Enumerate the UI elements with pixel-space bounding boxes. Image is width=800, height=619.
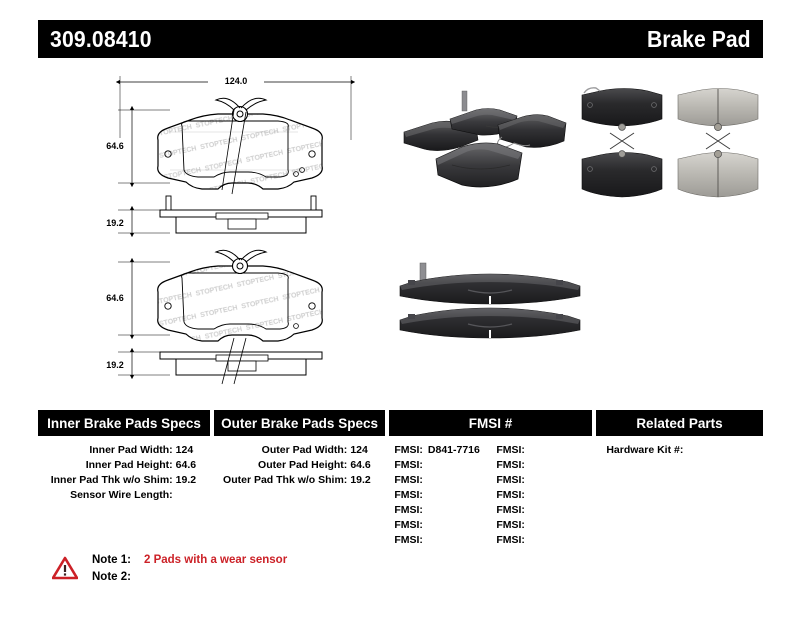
fmsi-label: FMSI: [496,503,530,518]
outer-pad-drawing: STOPTECH 64.6 19.2 [98,238,378,386]
fmsi-row: FMSI: [490,458,592,473]
fmsi-subcolumn-1: FMSI: D841-7716 FMSI: FMSI: FMSI: FMSI: [388,443,490,548]
note-1-text: 2 Pads with a wear sensor [144,552,287,569]
header-outer-specs: Outer Brake Pads Specs [214,410,385,436]
fmsi-label: FMSI: [496,488,530,503]
fmsi-row: FMSI: [490,443,592,458]
dim-height-label-outer: 64.6 [106,293,124,303]
fmsi-row: FMSI: [490,473,592,488]
fmsi-row: FMSI: [490,518,592,533]
fmsi-label: FMSI: [394,533,428,548]
fmsi-label: FMSI: [394,488,428,503]
note-2: Note 2: [92,569,287,586]
inner-pad-drawing: STOPTECH 124.0 64.6 [98,70,378,245]
note-lines: Note 1: 2 Pads with a wear sensor Note 2… [92,552,287,586]
spec-value: 19.2 [176,473,210,488]
dim-thickness-label-outer: 19.2 [106,360,124,370]
spec-value [176,488,210,503]
fmsi-row: FMSI: [388,518,490,533]
table-header-row: Inner Brake Pads Specs Outer Brake Pads … [38,410,763,436]
fmsi-row: FMSI: [388,533,490,548]
dim-width-label: 124.0 [225,76,248,86]
fmsi-label: FMSI: [496,473,530,488]
fmsi-subcolumn-2: FMSI: FMSI: FMSI: FMSI: FMSI: [490,443,592,548]
table-body: Inner Pad Width: 124 Inner Pad Height: 6… [38,443,763,548]
spec-row: Inner Pad Height: 64.6 [38,458,210,473]
notes-section: Note 1: 2 Pads with a wear sensor Note 2… [52,552,287,586]
inner-specs-column: Inner Pad Width: 124 Inner Pad Height: 6… [38,443,210,548]
fmsi-row: FMSI: [490,488,592,503]
dim-height-label: 64.6 [106,141,124,151]
spec-value: 64.6 [350,458,384,473]
title-bar: 309.08410 Brake Pad [38,20,763,58]
fmsi-label: FMSI: [496,458,530,473]
related-parts-column: Hardware Kit #: [596,443,763,548]
fmsi-label: FMSI: [496,443,530,458]
header-inner-specs: Inner Brake Pads Specs [38,410,210,436]
warning-triangle-icon [52,556,78,580]
note-2-label: Note 2: [92,569,138,586]
header-related-parts: Related Parts [596,410,763,436]
spec-row: Inner Pad Width: 124 [38,443,210,458]
fmsi-value: D841-7716 [428,443,480,458]
spec-value: 19.2 [350,473,384,488]
spec-row: Outer Pad Width: 124 [214,443,385,458]
note-1-label: Note 1: [92,552,138,569]
specs-table: Inner Brake Pads Specs Outer Brake Pads … [38,410,763,548]
spec-row: Outer Pad Height: 64.6 [214,458,385,473]
spec-label: Inner Pad Width: [38,443,176,458]
fmsi-row: FMSI: D841-7716 [388,443,490,458]
spec-row: Sensor Wire Length: [38,488,210,503]
fmsi-row: FMSI: [388,473,490,488]
fmsi-label: FMSI: [394,473,428,488]
outer-specs-column: Outer Pad Width: 124 Outer Pad Height: 6… [214,443,385,548]
spec-label: Inner Pad Height: [38,458,176,473]
spec-row: Inner Pad Thk w/o Shim: 19.2 [38,473,210,488]
fmsi-row: FMSI: [490,503,592,518]
pads-photo-grid [570,85,770,201]
fmsi-row: FMSI: [388,458,490,473]
product-name: Brake Pad [647,26,751,53]
spec-label: Outer Pad Width: [214,443,351,458]
part-number: 309.08410 [50,26,152,53]
fmsi-label: FMSI: [394,458,428,473]
dim-thickness-label: 19.2 [106,218,124,228]
fmsi-row: FMSI: [490,533,592,548]
spec-value: 64.6 [176,458,210,473]
artboard: STOPTECH 124.0 64.6 [38,66,763,386]
fmsi-row: FMSI: [388,488,490,503]
spec-value: 124 [350,443,384,458]
fmsi-label: FMSI: [394,503,428,518]
spec-label: Sensor Wire Length: [38,488,176,503]
fmsi-label: FMSI: [394,518,428,533]
fmsi-label: FMSI: [394,443,428,458]
pads-photo-edge [390,246,590,364]
pads-photo-perspective [390,85,580,197]
fmsi-column: FMSI: D841-7716 FMSI: FMSI: FMSI: FMSI: [388,443,592,548]
header-fmsi: FMSI # [389,410,592,436]
spec-value: 124 [176,443,210,458]
related-part-row: Hardware Kit #: [596,443,763,458]
spec-label: Outer Pad Thk w/o Shim: [214,473,351,488]
spec-row: Outer Pad Thk w/o Shim: 19.2 [214,473,385,488]
spec-label: Inner Pad Thk w/o Shim: [38,473,176,488]
note-1: Note 1: 2 Pads with a wear sensor [92,552,287,569]
spec-label: Outer Pad Height: [214,458,351,473]
fmsi-label: FMSI: [496,518,530,533]
fmsi-row: FMSI: [388,503,490,518]
fmsi-label: FMSI: [496,533,530,548]
